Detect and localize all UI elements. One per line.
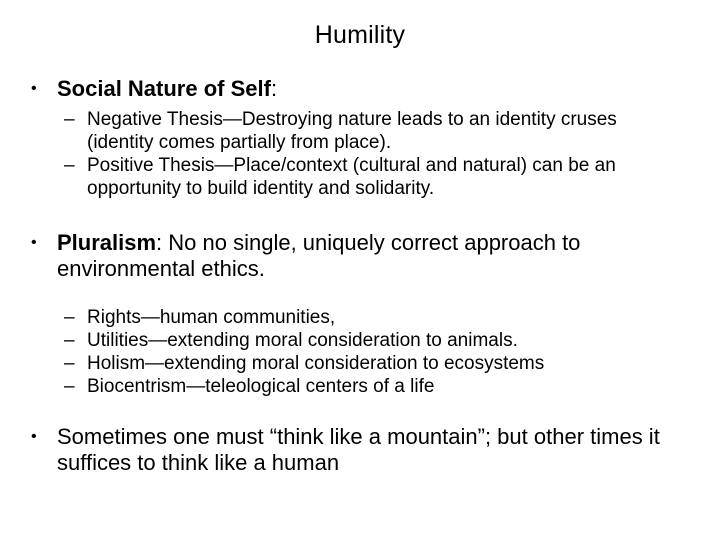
spacer: [0, 398, 720, 424]
bullet-level1-rest: Sometimes one must “think like a mountai…: [57, 424, 666, 475]
bullet-level2: – Holism—extending moral consideration t…: [0, 352, 720, 375]
bullet-level1-lead: Pluralism: [57, 230, 156, 255]
dash-marker-icon: –: [64, 352, 75, 375]
bullet-level2-text: Rights—human communities,: [87, 307, 335, 328]
bullet-level2-text: Holism—extending moral consideration to …: [87, 353, 544, 374]
bullet-level2: – Utilities—extending moral consideratio…: [0, 329, 720, 352]
page-title: Humility: [0, 20, 720, 50]
spacer: [0, 102, 720, 106]
bullet-level2: – Positive Thesis—Place/context (cultura…: [0, 154, 720, 200]
spacer: [0, 282, 720, 304]
bullet-marker-icon: •: [31, 230, 37, 256]
dash-marker-icon: –: [64, 154, 75, 177]
bullet-level2: – Negative Thesis—Destroying nature lead…: [0, 108, 720, 154]
dash-marker-icon: –: [64, 329, 75, 352]
bullet-level2: – Rights—human communities,: [0, 306, 720, 329]
bullet-level1: • Pluralism: No no single, uniquely corr…: [0, 230, 720, 282]
dash-marker-icon: –: [64, 375, 75, 398]
bullet-level2-text: Positive Thesis—Place/context (cultural …: [87, 155, 621, 199]
bullet-level1: • Social Nature of Self:: [0, 76, 720, 102]
bullet-level2-text: Utilities—extending moral consideration …: [87, 330, 518, 351]
bullet-level1: • Sometimes one must “think like a mount…: [0, 424, 720, 476]
sub-bullet-group: – Negative Thesis—Destroying nature lead…: [0, 108, 720, 200]
bullet-level1-colon: :: [271, 76, 277, 101]
dash-marker-icon: –: [64, 108, 75, 131]
bullet-level1-lead: Social Nature of Self: [57, 76, 271, 101]
sub-bullet-group: – Rights—human communities, – Utilities—…: [0, 306, 720, 398]
bullet-marker-icon: •: [31, 424, 37, 450]
bullet-marker-icon: •: [31, 76, 37, 102]
slide-body: • Social Nature of Self: – Negative Thes…: [0, 76, 720, 476]
bullet-level2: – Biocentrism—teleological centers of a …: [0, 375, 720, 398]
slide: Humility • Social Nature of Self: – Nega…: [0, 0, 720, 540]
dash-marker-icon: –: [64, 306, 75, 329]
spacer: [0, 200, 720, 230]
bullet-level2-text: Negative Thesis—Destroying nature leads …: [87, 109, 627, 153]
bullet-level2-text: Biocentrism—teleological centers of a li…: [87, 376, 434, 397]
